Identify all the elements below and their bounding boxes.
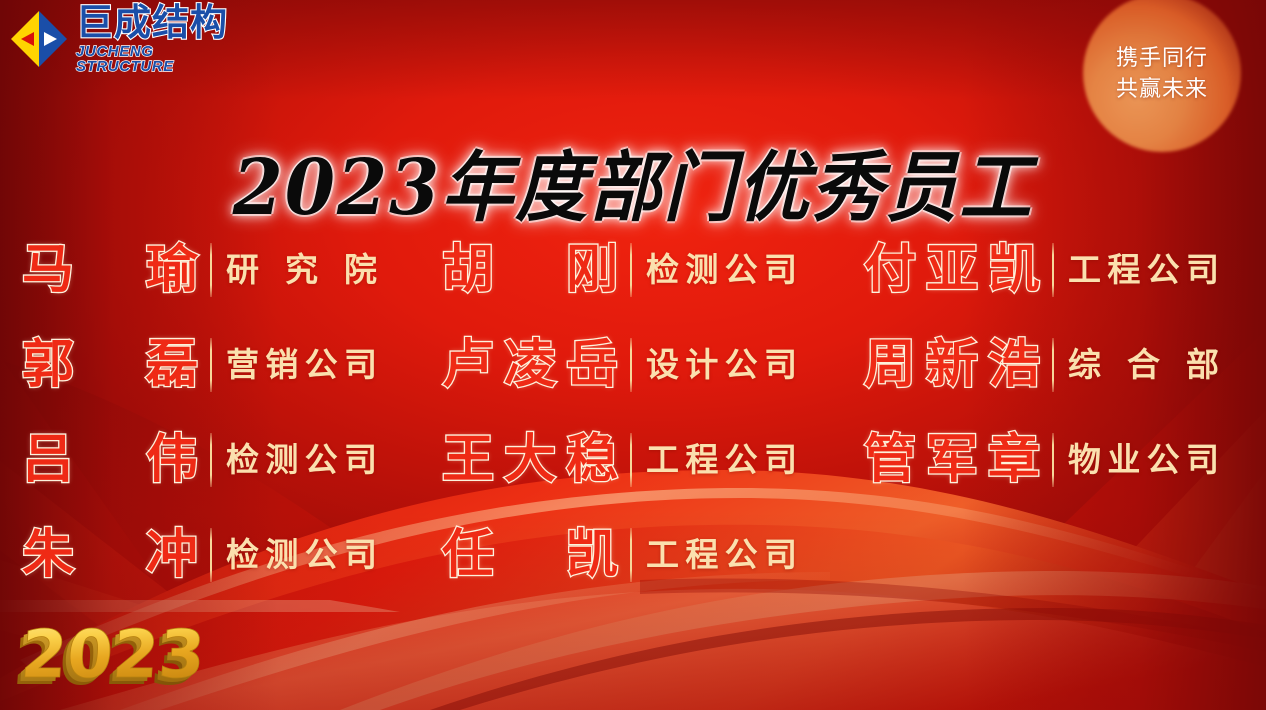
honoree-department: 工程公司 [1068,253,1220,286]
svg-text:2023: 2023 [18,616,207,693]
slogan-line-1: 携手同行 [1094,42,1230,73]
honoree-department: 检测公司 [226,538,378,571]
honoree-name: 朱冲 [22,529,198,581]
entry-divider [630,433,632,487]
honoree-entry: 王大稳 工程公司 [412,412,832,507]
honoree-entry: 郭磊 营销公司 [0,317,412,412]
honoree-entry: 吕伟 检测公司 [0,412,412,507]
slogan-line-2: 共赢未来 [1094,73,1230,104]
honoree-name: 王大稳 [442,434,618,486]
roster-row: 郭磊 营销公司 卢凌岳 设计公司 周新浩 综合部 [0,317,1266,412]
honoree-entry: 马瑜 研究院 [0,222,412,317]
honoree-entry: 管军章 物业公司 [832,412,1266,507]
honoree-entry: 朱冲 检测公司 [0,507,412,602]
honoree-entry: 付亚凯 工程公司 [832,222,1266,317]
honoree-name: 吕伟 [22,434,198,486]
honoree-name: 卢凌岳 [442,339,618,391]
entry-divider [630,338,632,392]
honoree-name: 付亚凯 [864,244,1040,296]
honoree-department: 营销公司 [226,348,378,381]
roster-row: 朱冲 检测公司 任凯 工程公司 [0,507,1266,602]
honoree-entry: 任凯 工程公司 [412,507,832,602]
honoree-name: 周新浩 [864,339,1040,391]
award-poster: 巨成结构 JUCHENG STRUCTURE 携手同行 共赢未来 2023年度部… [0,0,1266,710]
poster-title: 2023年度部门优秀员工 [0,125,1266,236]
entry-divider [1052,338,1054,392]
honoree-name: 管军章 [864,434,1040,486]
honoree-name: 胡刚 [442,244,618,296]
honoree-entry: 胡刚 检测公司 [412,222,832,317]
company-slogan: 携手同行 共赢未来 [1094,42,1230,104]
honoree-department: 综合部 [1068,348,1220,381]
honoree-department: 检测公司 [226,443,378,476]
gold-year-graphic: 2023 2023 2023 [6,598,216,702]
honoree-department: 工程公司 [646,538,798,571]
entry-divider [210,528,212,582]
company-logo: 巨成结构 JUCHENG STRUCTURE [8,6,240,72]
honoree-name: 郭磊 [22,339,198,391]
entry-divider [630,243,632,297]
jucheng-diamond-logo-icon [8,8,70,70]
honoree-department: 工程公司 [646,443,798,476]
honoree-entry: 卢凌岳 设计公司 [412,317,832,412]
logo-name-en: JUCHENG STRUCTURE [76,44,240,74]
logo-name-cn: 巨成结构 [76,4,240,41]
entry-divider [630,528,632,582]
honoree-entry: 周新浩 综合部 [832,317,1266,412]
honoree-name: 任凯 [442,529,618,581]
honoree-department: 设计公司 [646,348,798,381]
entry-divider [1052,433,1054,487]
honoree-department: 物业公司 [1068,443,1220,476]
honoree-name: 马瑜 [22,244,198,296]
entry-divider [1052,243,1054,297]
roster-row: 马瑜 研究院 胡刚 检测公司 付亚凯 工程公司 [0,222,1266,317]
entry-divider [210,243,212,297]
entry-divider [210,338,212,392]
honoree-roster: 马瑜 研究院 胡刚 检测公司 付亚凯 工程公司 郭磊 营销公司 卢 [0,222,1266,602]
honoree-department: 检测公司 [646,253,798,286]
honoree-department: 研究院 [226,253,378,286]
entry-divider [210,433,212,487]
roster-row: 吕伟 检测公司 王大稳 工程公司 管军章 物业公司 [0,412,1266,507]
